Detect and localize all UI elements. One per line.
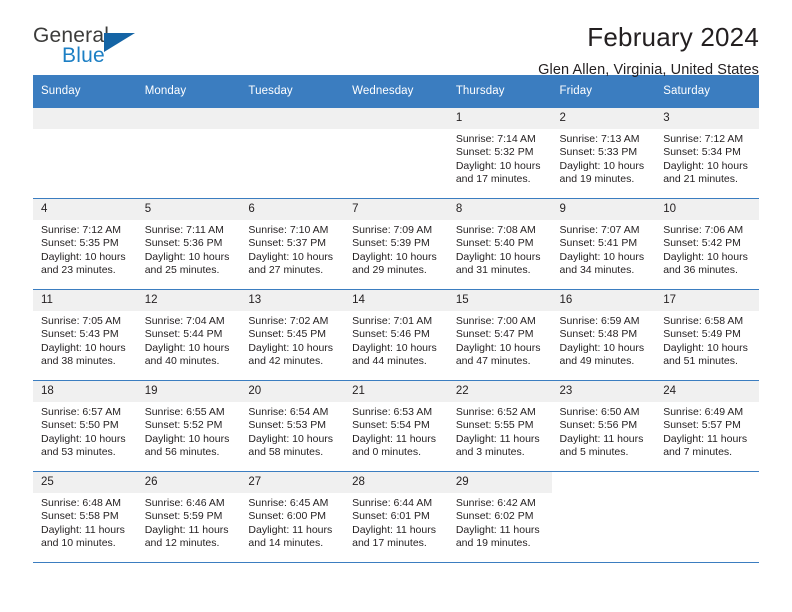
sunset-text: Sunset: 5:35 PM xyxy=(41,237,129,250)
sunset-text: Sunset: 5:33 PM xyxy=(560,146,648,159)
daylight-text-line1: Daylight: 10 hours xyxy=(663,160,751,173)
daylight-text-line1: Daylight: 10 hours xyxy=(41,433,129,446)
daylight-text-line1: Daylight: 10 hours xyxy=(560,342,648,355)
calendar-day-cell[interactable]: 26Sunrise: 6:46 AMSunset: 5:59 PMDayligh… xyxy=(137,472,241,563)
sunset-text: Sunset: 5:59 PM xyxy=(145,510,233,523)
day-number xyxy=(240,108,344,129)
sunrise-text: Sunrise: 7:12 AM xyxy=(41,224,129,237)
day-details: Sunrise: 6:48 AMSunset: 5:58 PMDaylight:… xyxy=(33,493,137,551)
weekday-header-sunday: Sunday xyxy=(33,75,137,108)
calendar-day-cell[interactable]: 5Sunrise: 7:11 AMSunset: 5:36 PMDaylight… xyxy=(137,199,241,290)
calendar-day-cell[interactable]: 3Sunrise: 7:12 AMSunset: 5:34 PMDaylight… xyxy=(655,108,759,199)
daylight-text-line1: Daylight: 10 hours xyxy=(560,160,648,173)
day-number: 12 xyxy=(137,290,241,311)
sunrise-text: Sunrise: 6:58 AM xyxy=(663,315,751,328)
day-number: 29 xyxy=(448,472,552,493)
sunrise-text: Sunrise: 6:45 AM xyxy=(248,497,336,510)
daylight-text-line2: and 56 minutes. xyxy=(145,446,233,459)
sunrise-text: Sunrise: 6:48 AM xyxy=(41,497,129,510)
daylight-text-line2: and 3 minutes. xyxy=(456,446,544,459)
daylight-text-line2: and 10 minutes. xyxy=(41,537,129,550)
sunset-text: Sunset: 5:41 PM xyxy=(560,237,648,250)
sunset-text: Sunset: 5:47 PM xyxy=(456,328,544,341)
day-details: Sunrise: 6:54 AMSunset: 5:53 PMDaylight:… xyxy=(240,402,344,460)
daylight-text-line1: Daylight: 10 hours xyxy=(41,342,129,355)
weekday-header-wednesday: Wednesday xyxy=(344,75,448,108)
daylight-text-line2: and 34 minutes. xyxy=(560,264,648,277)
daylight-text-line1: Daylight: 10 hours xyxy=(145,342,233,355)
calendar-day-cell[interactable]: 12Sunrise: 7:04 AMSunset: 5:44 PMDayligh… xyxy=(137,290,241,381)
day-number: 19 xyxy=(137,381,241,402)
sunrise-text: Sunrise: 7:13 AM xyxy=(560,133,648,146)
day-number xyxy=(344,108,448,129)
daylight-text-line2: and 14 minutes. xyxy=(248,537,336,550)
calendar-day-cell[interactable]: 18Sunrise: 6:57 AMSunset: 5:50 PMDayligh… xyxy=(33,381,137,472)
weekday-header-tuesday: Tuesday xyxy=(240,75,344,108)
daylight-text-line1: Daylight: 10 hours xyxy=(248,342,336,355)
day-details: Sunrise: 7:13 AMSunset: 5:33 PMDaylight:… xyxy=(552,129,656,187)
day-number: 22 xyxy=(448,381,552,402)
day-details: Sunrise: 6:49 AMSunset: 5:57 PMDaylight:… xyxy=(655,402,759,460)
sunrise-text: Sunrise: 7:12 AM xyxy=(663,133,751,146)
sunset-text: Sunset: 5:57 PM xyxy=(663,419,751,432)
daylight-text-line2: and 38 minutes. xyxy=(41,355,129,368)
daylight-text-line2: and 27 minutes. xyxy=(248,264,336,277)
sunrise-text: Sunrise: 7:10 AM xyxy=(248,224,336,237)
day-details: Sunrise: 6:44 AMSunset: 6:01 PMDaylight:… xyxy=(344,493,448,551)
daylight-text-line1: Daylight: 10 hours xyxy=(560,251,648,264)
sunset-text: Sunset: 5:43 PM xyxy=(41,328,129,341)
calendar-day-cell[interactable]: 10Sunrise: 7:06 AMSunset: 5:42 PMDayligh… xyxy=(655,199,759,290)
daylight-text-line1: Daylight: 11 hours xyxy=(248,524,336,537)
sunset-text: Sunset: 5:58 PM xyxy=(41,510,129,523)
sunrise-text: Sunrise: 6:54 AM xyxy=(248,406,336,419)
sunrise-text: Sunrise: 6:46 AM xyxy=(145,497,233,510)
daylight-text-line2: and 12 minutes. xyxy=(145,537,233,550)
daylight-text-line1: Daylight: 11 hours xyxy=(41,524,129,537)
logo-triangle-icon xyxy=(104,33,135,52)
daylight-text-line1: Daylight: 10 hours xyxy=(41,251,129,264)
daylight-text-line2: and 44 minutes. xyxy=(352,355,440,368)
day-number: 18 xyxy=(33,381,137,402)
calendar-day-cell[interactable]: 29Sunrise: 6:42 AMSunset: 6:02 PMDayligh… xyxy=(448,472,552,563)
day-details: Sunrise: 6:58 AMSunset: 5:49 PMDaylight:… xyxy=(655,311,759,369)
daylight-text-line2: and 42 minutes. xyxy=(248,355,336,368)
daylight-text-line2: and 31 minutes. xyxy=(456,264,544,277)
sunset-text: Sunset: 5:55 PM xyxy=(456,419,544,432)
calendar-day-cell-empty xyxy=(240,108,344,199)
day-details: Sunrise: 7:07 AMSunset: 5:41 PMDaylight:… xyxy=(552,220,656,278)
daylight-text-line1: Daylight: 10 hours xyxy=(456,342,544,355)
day-number: 25 xyxy=(33,472,137,493)
daylight-text-line1: Daylight: 10 hours xyxy=(663,251,751,264)
calendar-day-cell[interactable]: 19Sunrise: 6:55 AMSunset: 5:52 PMDayligh… xyxy=(137,381,241,472)
daylight-text-line1: Daylight: 11 hours xyxy=(352,524,440,537)
sunrise-text: Sunrise: 6:57 AM xyxy=(41,406,129,419)
calendar-day-cell[interactable]: 11Sunrise: 7:05 AMSunset: 5:43 PMDayligh… xyxy=(33,290,137,381)
day-details: Sunrise: 7:00 AMSunset: 5:47 PMDaylight:… xyxy=(448,311,552,369)
day-details: Sunrise: 6:57 AMSunset: 5:50 PMDaylight:… xyxy=(33,402,137,460)
daylight-text-line1: Daylight: 10 hours xyxy=(352,251,440,264)
sunset-text: Sunset: 5:49 PM xyxy=(663,328,751,341)
day-details: Sunrise: 7:06 AMSunset: 5:42 PMDaylight:… xyxy=(655,220,759,278)
daylight-text-line2: and 47 minutes. xyxy=(456,355,544,368)
daylight-text-line1: Daylight: 11 hours xyxy=(560,433,648,446)
calendar-week-row: 4Sunrise: 7:12 AMSunset: 5:35 PMDaylight… xyxy=(33,199,759,290)
daylight-text-line1: Daylight: 10 hours xyxy=(145,433,233,446)
daylight-text-line2: and 17 minutes. xyxy=(352,537,440,550)
day-number: 3 xyxy=(655,108,759,129)
daylight-text-line1: Daylight: 10 hours xyxy=(456,251,544,264)
day-number: 23 xyxy=(552,381,656,402)
sunset-text: Sunset: 5:53 PM xyxy=(248,419,336,432)
calendar-day-cell[interactable]: 8Sunrise: 7:08 AMSunset: 5:40 PMDaylight… xyxy=(448,199,552,290)
day-number: 16 xyxy=(552,290,656,311)
sunset-text: Sunset: 5:40 PM xyxy=(456,237,544,250)
daylight-text-line2: and 36 minutes. xyxy=(663,264,751,277)
calendar-day-cell[interactable]: 24Sunrise: 6:49 AMSunset: 5:57 PMDayligh… xyxy=(655,381,759,472)
day-number: 7 xyxy=(344,199,448,220)
day-details: Sunrise: 7:02 AMSunset: 5:45 PMDaylight:… xyxy=(240,311,344,369)
daylight-text-line2: and 51 minutes. xyxy=(663,355,751,368)
daylight-text-line2: and 5 minutes. xyxy=(560,446,648,459)
daylight-text-line1: Daylight: 10 hours xyxy=(352,342,440,355)
calendar-day-cell-empty xyxy=(137,108,241,199)
title-block: February 2024 Glen Allen, Virginia, Unit… xyxy=(538,22,759,80)
day-details: Sunrise: 7:09 AMSunset: 5:39 PMDaylight:… xyxy=(344,220,448,278)
sunset-text: Sunset: 5:56 PM xyxy=(560,419,648,432)
daylight-text-line1: Daylight: 10 hours xyxy=(248,251,336,264)
sunrise-text: Sunrise: 7:04 AM xyxy=(145,315,233,328)
calendar-day-cell[interactable]: 9Sunrise: 7:07 AMSunset: 5:41 PMDaylight… xyxy=(552,199,656,290)
sunset-text: Sunset: 5:39 PM xyxy=(352,237,440,250)
calendar-day-cell-empty xyxy=(344,108,448,199)
sunrise-text: Sunrise: 7:01 AM xyxy=(352,315,440,328)
calendar-body: 1Sunrise: 7:14 AMSunset: 5:32 PMDaylight… xyxy=(33,108,759,563)
day-details: Sunrise: 6:55 AMSunset: 5:52 PMDaylight:… xyxy=(137,402,241,460)
daylight-text-line1: Daylight: 11 hours xyxy=(456,524,544,537)
calendar-day-cell[interactable]: 25Sunrise: 6:48 AMSunset: 5:58 PMDayligh… xyxy=(33,472,137,563)
day-number: 1 xyxy=(448,108,552,129)
daylight-text-line1: Daylight: 11 hours xyxy=(456,433,544,446)
sunrise-text: Sunrise: 6:55 AM xyxy=(145,406,233,419)
day-number: 11 xyxy=(33,290,137,311)
sunset-text: Sunset: 5:50 PM xyxy=(41,419,129,432)
day-number: 15 xyxy=(448,290,552,311)
sunrise-text: Sunrise: 7:07 AM xyxy=(560,224,648,237)
daylight-text-line2: and 19 minutes. xyxy=(560,173,648,186)
day-details: Sunrise: 6:46 AMSunset: 5:59 PMDaylight:… xyxy=(137,493,241,551)
daylight-text-line2: and 40 minutes. xyxy=(145,355,233,368)
calendar-day-cell[interactable]: 4Sunrise: 7:12 AMSunset: 5:35 PMDaylight… xyxy=(33,199,137,290)
day-number: 5 xyxy=(137,199,241,220)
page-header: General Blue February 2024 Glen Allen, V… xyxy=(33,0,759,75)
daylight-text-line1: Daylight: 10 hours xyxy=(145,251,233,264)
sunset-text: Sunset: 6:02 PM xyxy=(456,510,544,523)
day-details: Sunrise: 7:05 AMSunset: 5:43 PMDaylight:… xyxy=(33,311,137,369)
sunset-text: Sunset: 5:37 PM xyxy=(248,237,336,250)
logo-text-blue: Blue xyxy=(62,45,213,66)
sunset-text: Sunset: 5:34 PM xyxy=(663,146,751,159)
daylight-text-line1: Daylight: 10 hours xyxy=(456,160,544,173)
sunset-text: Sunset: 5:42 PM xyxy=(663,237,751,250)
sunrise-text: Sunrise: 7:02 AM xyxy=(248,315,336,328)
daylight-text-line2: and 29 minutes. xyxy=(352,264,440,277)
daylight-text-line1: Daylight: 11 hours xyxy=(145,524,233,537)
calendar-day-cell[interactable]: 20Sunrise: 6:54 AMSunset: 5:53 PMDayligh… xyxy=(240,381,344,472)
calendar-day-cell[interactable]: 22Sunrise: 6:52 AMSunset: 5:55 PMDayligh… xyxy=(448,381,552,472)
day-details: Sunrise: 7:14 AMSunset: 5:32 PMDaylight:… xyxy=(448,129,552,187)
calendar-day-cell[interactable]: 1Sunrise: 7:14 AMSunset: 5:32 PMDaylight… xyxy=(448,108,552,199)
sunset-text: Sunset: 5:32 PM xyxy=(456,146,544,159)
daylight-text-line1: Daylight: 10 hours xyxy=(663,342,751,355)
day-number: 2 xyxy=(552,108,656,129)
calendar-day-cell-empty xyxy=(655,472,759,563)
day-number xyxy=(33,108,137,129)
day-number: 13 xyxy=(240,290,344,311)
sunset-text: Sunset: 5:44 PM xyxy=(145,328,233,341)
day-number xyxy=(552,472,656,493)
sunset-text: Sunset: 5:45 PM xyxy=(248,328,336,341)
calendar-day-cell[interactable]: 16Sunrise: 6:59 AMSunset: 5:48 PMDayligh… xyxy=(552,290,656,381)
daylight-text-line2: and 7 minutes. xyxy=(663,446,751,459)
calendar-week-row: 25Sunrise: 6:48 AMSunset: 5:58 PMDayligh… xyxy=(33,472,759,563)
calendar-table: Sunday Monday Tuesday Wednesday Thursday… xyxy=(33,75,759,563)
calendar-day-cell[interactable]: 28Sunrise: 6:44 AMSunset: 6:01 PMDayligh… xyxy=(344,472,448,563)
sunset-text: Sunset: 5:46 PM xyxy=(352,328,440,341)
day-number: 17 xyxy=(655,290,759,311)
weekday-header-monday: Monday xyxy=(137,75,241,108)
day-number: 8 xyxy=(448,199,552,220)
logo-general-blue[interactable]: General Blue xyxy=(33,25,213,75)
day-details: Sunrise: 7:11 AMSunset: 5:36 PMDaylight:… xyxy=(137,220,241,278)
daylight-text-line2: and 53 minutes. xyxy=(41,446,129,459)
weekday-header-thursday: Thursday xyxy=(448,75,552,108)
calendar-day-cell[interactable]: 23Sunrise: 6:50 AMSunset: 5:56 PMDayligh… xyxy=(552,381,656,472)
day-number xyxy=(137,108,241,129)
daylight-text-line2: and 21 minutes. xyxy=(663,173,751,186)
calendar-day-cell[interactable]: 7Sunrise: 7:09 AMSunset: 5:39 PMDaylight… xyxy=(344,199,448,290)
daylight-text-line2: and 23 minutes. xyxy=(41,264,129,277)
daylight-text-line1: Daylight: 11 hours xyxy=(352,433,440,446)
daylight-text-line2: and 49 minutes. xyxy=(560,355,648,368)
day-number: 10 xyxy=(655,199,759,220)
sunrise-text: Sunrise: 6:50 AM xyxy=(560,406,648,419)
calendar-day-cell[interactable]: 17Sunrise: 6:58 AMSunset: 5:49 PMDayligh… xyxy=(655,290,759,381)
sunrise-text: Sunrise: 7:06 AM xyxy=(663,224,751,237)
day-number: 4 xyxy=(33,199,137,220)
sunrise-text: Sunrise: 7:05 AM xyxy=(41,315,129,328)
sunset-text: Sunset: 5:36 PM xyxy=(145,237,233,250)
day-number: 26 xyxy=(137,472,241,493)
day-details: Sunrise: 6:59 AMSunset: 5:48 PMDaylight:… xyxy=(552,311,656,369)
sunrise-text: Sunrise: 7:00 AM xyxy=(456,315,544,328)
day-details: Sunrise: 7:04 AMSunset: 5:44 PMDaylight:… xyxy=(137,311,241,369)
sunset-text: Sunset: 5:52 PM xyxy=(145,419,233,432)
daylight-text-line2: and 19 minutes. xyxy=(456,537,544,550)
day-details: Sunrise: 6:53 AMSunset: 5:54 PMDaylight:… xyxy=(344,402,448,460)
daylight-text-line2: and 0 minutes. xyxy=(352,446,440,459)
calendar-week-row: 1Sunrise: 7:14 AMSunset: 5:32 PMDaylight… xyxy=(33,108,759,199)
calendar-day-cell-empty xyxy=(33,108,137,199)
day-details: Sunrise: 7:12 AMSunset: 5:35 PMDaylight:… xyxy=(33,220,137,278)
daylight-text-line1: Daylight: 11 hours xyxy=(663,433,751,446)
sunrise-text: Sunrise: 6:49 AM xyxy=(663,406,751,419)
calendar-week-row: 18Sunrise: 6:57 AMSunset: 5:50 PMDayligh… xyxy=(33,381,759,472)
sunset-text: Sunset: 5:54 PM xyxy=(352,419,440,432)
day-details: Sunrise: 6:42 AMSunset: 6:02 PMDaylight:… xyxy=(448,493,552,551)
calendar-day-cell[interactable]: 2Sunrise: 7:13 AMSunset: 5:33 PMDaylight… xyxy=(552,108,656,199)
calendar-page: General Blue February 2024 Glen Allen, V… xyxy=(0,0,792,612)
sunrise-text: Sunrise: 6:44 AM xyxy=(352,497,440,510)
day-details: Sunrise: 7:12 AMSunset: 5:34 PMDaylight:… xyxy=(655,129,759,187)
sunrise-text: Sunrise: 7:09 AM xyxy=(352,224,440,237)
day-number: 14 xyxy=(344,290,448,311)
sunset-text: Sunset: 6:00 PM xyxy=(248,510,336,523)
day-number xyxy=(655,472,759,493)
calendar-day-cell[interactable]: 13Sunrise: 7:02 AMSunset: 5:45 PMDayligh… xyxy=(240,290,344,381)
sunrise-text: Sunrise: 6:52 AM xyxy=(456,406,544,419)
sunrise-text: Sunrise: 6:59 AM xyxy=(560,315,648,328)
day-details: Sunrise: 6:45 AMSunset: 6:00 PMDaylight:… xyxy=(240,493,344,551)
day-details: Sunrise: 7:08 AMSunset: 5:40 PMDaylight:… xyxy=(448,220,552,278)
sunrise-text: Sunrise: 7:14 AM xyxy=(456,133,544,146)
calendar-day-cell-empty xyxy=(552,472,656,563)
calendar-day-cell[interactable]: 6Sunrise: 7:10 AMSunset: 5:37 PMDaylight… xyxy=(240,199,344,290)
daylight-text-line2: and 17 minutes. xyxy=(456,173,544,186)
page-title: February 2024 xyxy=(538,22,759,52)
day-details: Sunrise: 6:52 AMSunset: 5:55 PMDaylight:… xyxy=(448,402,552,460)
calendar-day-cell[interactable]: 21Sunrise: 6:53 AMSunset: 5:54 PMDayligh… xyxy=(344,381,448,472)
sunrise-text: Sunrise: 7:11 AM xyxy=(145,224,233,237)
daylight-text-line1: Daylight: 10 hours xyxy=(248,433,336,446)
day-number: 21 xyxy=(344,381,448,402)
day-number: 24 xyxy=(655,381,759,402)
calendar-day-cell[interactable]: 14Sunrise: 7:01 AMSunset: 5:46 PMDayligh… xyxy=(344,290,448,381)
calendar-day-cell[interactable]: 27Sunrise: 6:45 AMSunset: 6:00 PMDayligh… xyxy=(240,472,344,563)
day-details: Sunrise: 6:50 AMSunset: 5:56 PMDaylight:… xyxy=(552,402,656,460)
day-details: Sunrise: 7:01 AMSunset: 5:46 PMDaylight:… xyxy=(344,311,448,369)
day-details: Sunrise: 7:10 AMSunset: 5:37 PMDaylight:… xyxy=(240,220,344,278)
calendar-day-cell[interactable]: 15Sunrise: 7:00 AMSunset: 5:47 PMDayligh… xyxy=(448,290,552,381)
daylight-text-line2: and 58 minutes. xyxy=(248,446,336,459)
day-number: 27 xyxy=(240,472,344,493)
day-number: 20 xyxy=(240,381,344,402)
page-subtitle: Glen Allen, Virginia, United States xyxy=(538,60,759,80)
day-number: 6 xyxy=(240,199,344,220)
calendar-week-row: 11Sunrise: 7:05 AMSunset: 5:43 PMDayligh… xyxy=(33,290,759,381)
sunrise-text: Sunrise: 7:08 AM xyxy=(456,224,544,237)
day-number: 28 xyxy=(344,472,448,493)
sunrise-text: Sunrise: 6:42 AM xyxy=(456,497,544,510)
sunset-text: Sunset: 6:01 PM xyxy=(352,510,440,523)
sunrise-text: Sunrise: 6:53 AM xyxy=(352,406,440,419)
sunset-text: Sunset: 5:48 PM xyxy=(560,328,648,341)
day-number: 9 xyxy=(552,199,656,220)
daylight-text-line2: and 25 minutes. xyxy=(145,264,233,277)
